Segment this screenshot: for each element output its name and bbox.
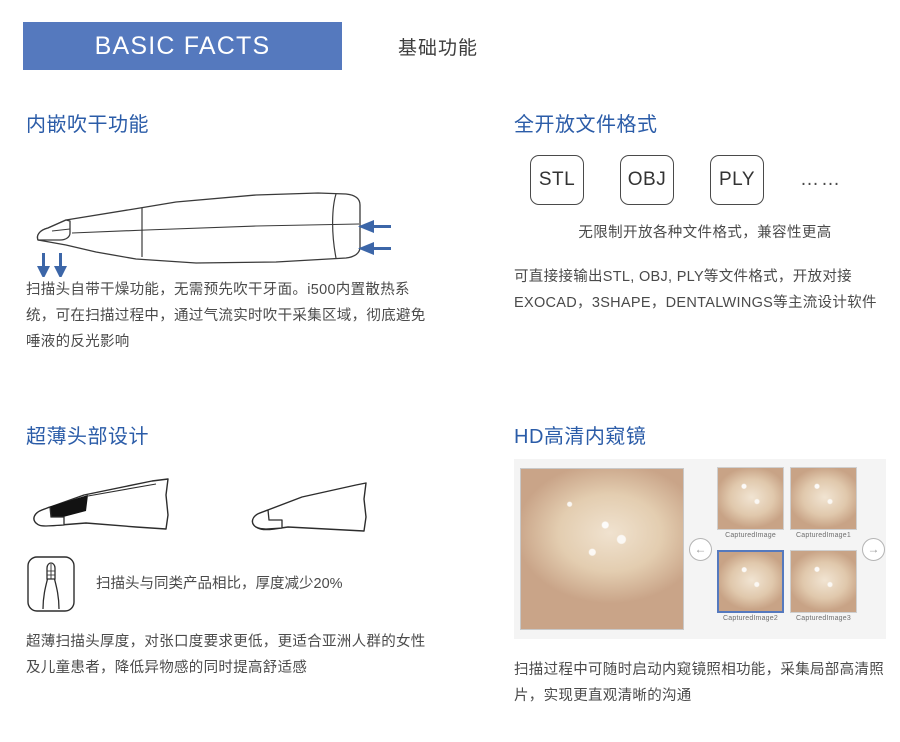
endoscope-gallery-panel: ← CapturedImage CapturedImage1 CapturedI… (514, 459, 886, 639)
thumbnail-label: CapturedImage (725, 532, 776, 539)
arrow-right-icon[interactable]: → (862, 538, 885, 561)
airflow-arrow-down-right (54, 253, 67, 277)
airflow-arrow-in-lower (358, 242, 391, 255)
arrow-left-icon[interactable]: ← (689, 538, 712, 561)
feature-air-dry: 内嵌吹干功能 (26, 108, 426, 355)
feature-open-formats-body: 可直接接输出STL, OBJ, PLY等文件格式，开放对接EXOCAD，3SHA… (514, 264, 886, 316)
tooth-probe-icon (26, 555, 76, 613)
header-subtitle: 基础功能 (398, 33, 478, 60)
feature-thin-head-title: 超薄头部设计 (26, 420, 426, 449)
thumbnail-label: CapturedImage2 (723, 615, 778, 622)
feature-hd-endoscope-body: 扫描过程中可随时启动内窥镜照相功能，采集局部高清照片，实现更直观清晰的沟通 (514, 657, 886, 709)
basic-facts-banner: BASIC FACTS (23, 22, 342, 70)
thumbnail-image-selected[interactable] (717, 550, 784, 613)
thumbnail-label: CapturedImage1 (796, 532, 851, 539)
scanner-wand-illustration (26, 147, 426, 277)
list-item[interactable]: CapturedImage1 (790, 467, 857, 548)
feature-open-formats: 全开放文件格式 STL OBJ PLY …… 无限制开放各种文件格式，兼容性更高… (514, 108, 886, 316)
scanner-tip-right (253, 483, 366, 531)
scanner-wand-svg (26, 147, 426, 277)
feature-thin-head-body: 超薄扫描头厚度，对张口度要求更低，更适合亚洲人群的女性及儿童患者，降低异物感的同… (26, 629, 426, 681)
list-item[interactable]: CapturedImage2 (717, 550, 784, 631)
feature-open-formats-title: 全开放文件格式 (514, 108, 886, 137)
thumbnail-image[interactable] (717, 467, 784, 530)
thin-head-note-text: 扫描头与同类产品相比，厚度减少20% (96, 571, 343, 597)
tooth-probe-icon-box (26, 555, 76, 613)
file-format-box-obj: OBJ (620, 155, 674, 205)
feature-hd-endoscope: HD高清内窥镜 ← CapturedImage CapturedImage1 C… (514, 420, 886, 709)
file-format-box-row: STL OBJ PLY …… (514, 155, 886, 205)
thin-head-note-row: 扫描头与同类产品相比，厚度减少20% (26, 555, 426, 613)
thumbnail-image[interactable] (790, 467, 857, 530)
captured-thumbnail-grid: CapturedImage CapturedImage1 CapturedIma… (717, 467, 857, 631)
thumbnail-image[interactable] (790, 550, 857, 613)
list-item[interactable]: CapturedImage (717, 467, 784, 548)
file-format-caption: 无限制开放各种文件格式，兼容性更高 (514, 221, 886, 242)
feature-hd-endoscope-title: HD高清内窥镜 (514, 420, 886, 449)
feature-air-dry-title: 内嵌吹干功能 (26, 108, 426, 137)
scanner-tip-svg (26, 459, 426, 549)
list-item[interactable]: CapturedImage3 (790, 550, 857, 631)
file-format-ellipsis: …… (800, 169, 842, 191)
main-captured-tooth-image (520, 468, 684, 630)
feature-air-dry-body: 扫描头自带干燥功能，无需预先吹干牙面。i500内置散热系统，可在扫描过程中，通过… (26, 277, 426, 355)
airflow-arrow-down-left (37, 253, 50, 277)
file-format-box-stl: STL (530, 155, 584, 205)
banner-title: BASIC FACTS (95, 32, 271, 61)
page-header: BASIC FACTS 基础功能 (0, 0, 900, 92)
airflow-arrow-in-upper (358, 220, 391, 233)
scanner-tip-comparison-illustration (26, 459, 426, 549)
thumbnail-label: CapturedImage3 (796, 615, 851, 622)
file-format-box-ply: PLY (710, 155, 764, 205)
feature-thin-head: 超薄头部设计 (26, 420, 426, 681)
scanner-tip-left (34, 479, 168, 529)
